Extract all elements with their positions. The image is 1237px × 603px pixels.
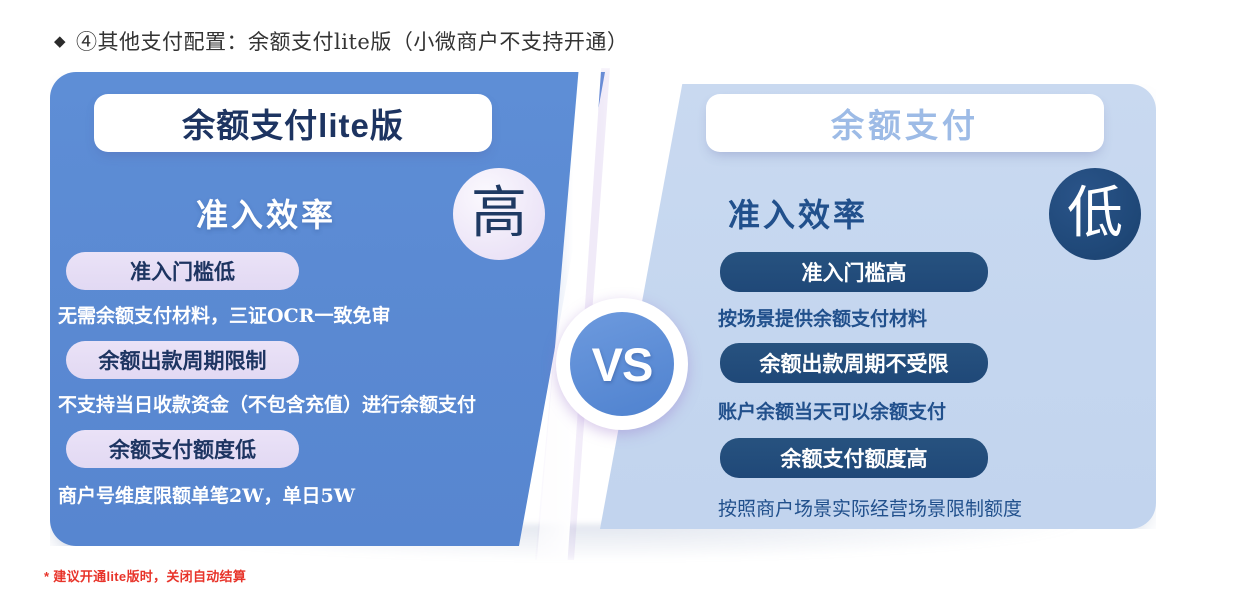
left-rank-badge: 高	[453, 168, 545, 260]
diamond-bullet-icon: ◆	[54, 34, 66, 49]
left-feature-desc-1: 无需余额支付材料，三证OCR一致免审	[58, 301, 556, 328]
comparison-figure: 余额支付lite版 余额支付 准入效率 准入效率 高 低 VS 准入门槛低 无需…	[0, 72, 1237, 557]
right-feature-pill-2: 余额出款周期不受限	[720, 343, 988, 383]
right-title-text: 余额支付	[831, 99, 979, 147]
vs-badge: VS	[556, 314, 689, 416]
left-section-heading: 准入效率	[196, 190, 336, 236]
right-section-heading: 准入效率	[728, 190, 868, 236]
left-feature-desc-2: 不支持当日收款资金（不包含充值）进行余额支付	[58, 390, 556, 417]
footnote-text: * 建议开通lite版时，关闭自动结算	[44, 566, 246, 585]
right-feature-desc-1: 按场景提供余额支付材料	[718, 304, 1118, 331]
left-feature-desc-3: 商户号维度限额单笔2W，单日5W	[58, 481, 556, 508]
left-feature-pill-1: 准入门槛低	[66, 252, 299, 290]
page-heading-text: ④其他支付配置：余额支付lite版（小微商户不支持开通）	[76, 26, 628, 56]
right-title-card: 余额支付	[706, 94, 1104, 152]
left-feature-pill-2: 余额出款周期限制	[66, 341, 299, 379]
right-feature-list: 准入门槛高 按场景提供余额支付材料 余额出款周期不受限 账户余额当天可以余额支付…	[718, 252, 1118, 521]
vs-badge-circle: VS	[570, 312, 674, 416]
right-feature-pill-3: 余额支付额度高	[720, 438, 988, 478]
left-title-text: 余额支付lite版	[182, 99, 404, 147]
right-feature-desc-3: 按照商户场景实际经营场景限制额度	[718, 494, 1118, 521]
left-title-card: 余额支付lite版	[94, 94, 492, 152]
left-feature-pill-3: 余额支付额度低	[66, 430, 299, 468]
right-feature-pill-1: 准入门槛高	[720, 252, 988, 292]
right-feature-desc-2: 账户余额当天可以余额支付	[718, 397, 1118, 424]
left-feature-list: 准入门槛低 无需余额支付材料，三证OCR一致免审 余额出款周期限制 不支持当日收…	[56, 252, 556, 508]
vs-badge-label: VS	[592, 337, 653, 392]
right-rank-badge: 低	[1049, 168, 1141, 260]
page-heading: ◆ ④其他支付配置：余额支付lite版（小微商户不支持开通）	[54, 26, 628, 56]
